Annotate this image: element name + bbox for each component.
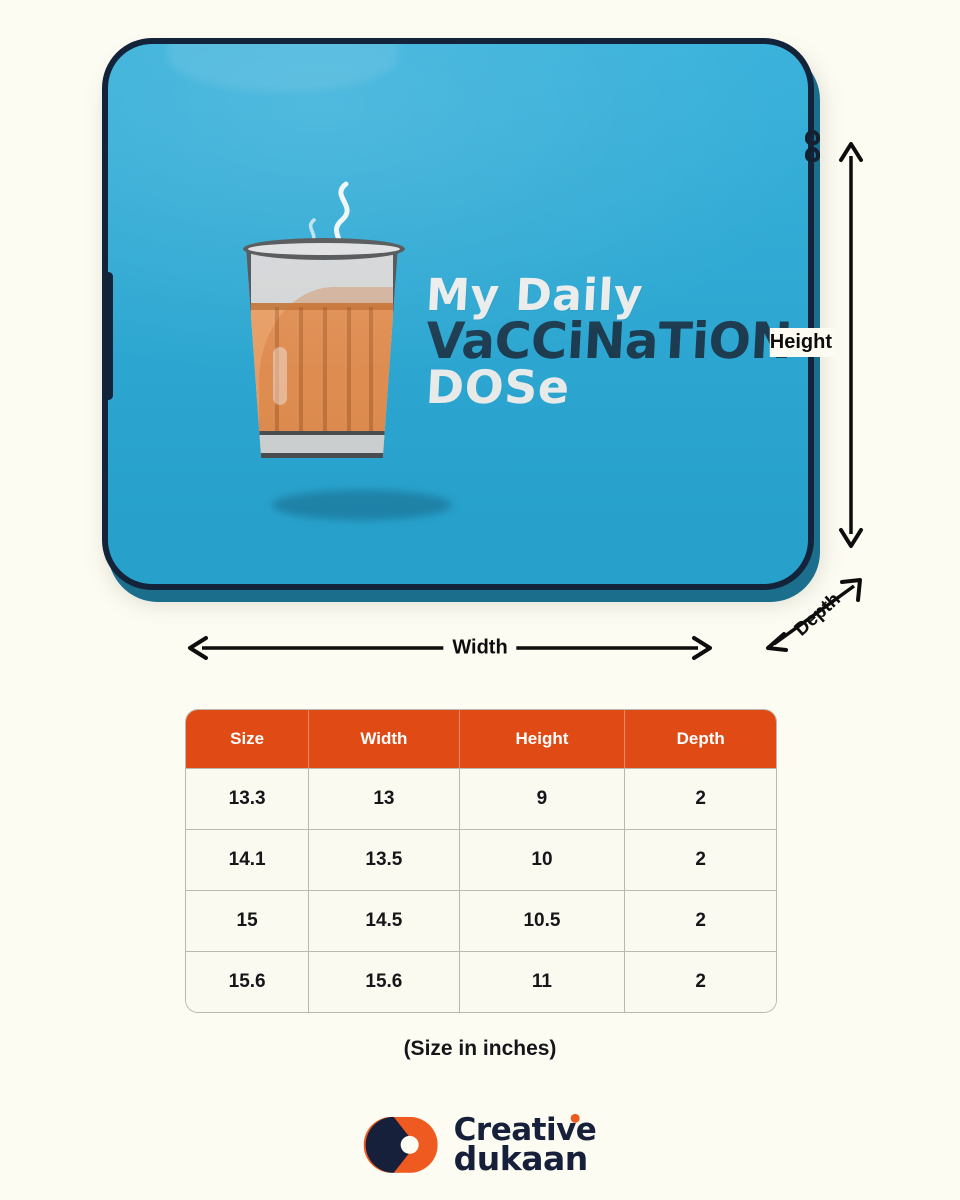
glass-highlight	[273, 347, 287, 405]
cell-width: 15.6	[309, 951, 459, 1012]
glass-base	[251, 431, 393, 453]
height-arrow	[838, 140, 864, 550]
slogan-line-2: VaCCiNaTiON	[425, 318, 777, 364]
creative-dukaan-logo-icon	[364, 1117, 438, 1173]
design-slogan: My Daily VaCCiNaTiON DOSe	[426, 276, 776, 409]
cell-height: 11	[460, 951, 626, 1012]
cell-height: 10.5	[460, 890, 626, 951]
cell-height: 10	[460, 829, 626, 890]
width-label: Width	[443, 637, 516, 660]
cell-size: 15	[186, 890, 309, 951]
table-row: 15 14.5 10.5 2	[186, 890, 776, 951]
brand-line-2: dukaan	[454, 1144, 597, 1173]
cell-size: 13.3	[186, 768, 309, 829]
slogan-line-1: My Daily	[425, 276, 777, 316]
cell-width: 13.5	[309, 829, 459, 890]
size-unit-note: (Size in inches)	[404, 1037, 557, 1061]
zipper-track-left	[104, 272, 113, 400]
cell-width: 14.5	[309, 890, 459, 951]
zipper-pull	[803, 130, 825, 176]
cell-width: 13	[309, 768, 459, 829]
slogan-line-3: DOSe	[425, 366, 777, 408]
cell-depth: 2	[625, 768, 776, 829]
table-header-row: Size Width Height Depth	[186, 710, 776, 768]
brand-wordmark: Creative dukaan	[454, 1117, 597, 1173]
size-table: Size Width Height Depth 13.3 13 9 2 14.1…	[186, 710, 776, 1012]
cell-size: 15.6	[186, 951, 309, 1012]
product-image: My Daily VaCCiNaTiON DOSe	[96, 34, 826, 604]
glass-shadow	[272, 490, 452, 520]
brand-logo: Creative dukaan	[364, 1117, 597, 1173]
cell-depth: 2	[625, 829, 776, 890]
column-header-depth: Depth	[625, 710, 776, 768]
sleeve-fabric-fold	[168, 44, 398, 92]
height-label: Height	[770, 328, 836, 357]
cell-height: 9	[460, 768, 626, 829]
table-row: 13.3 13 9 2	[186, 768, 776, 829]
cell-size: 14.1	[186, 829, 309, 890]
glass-vessel	[246, 246, 398, 458]
column-header-width: Width	[309, 710, 459, 768]
chai-glass-illustration	[238, 184, 418, 514]
sleeve-body: My Daily VaCCiNaTiON DOSe	[108, 44, 808, 584]
glass-rim	[243, 238, 405, 260]
cell-depth: 2	[625, 890, 776, 951]
column-header-height: Height	[460, 710, 626, 768]
brand-accent-dot	[570, 1114, 579, 1123]
cell-depth: 2	[625, 951, 776, 1012]
table-row: 14.1 13.5 10 2	[186, 829, 776, 890]
column-header-size: Size	[186, 710, 309, 768]
table-row: 15.6 15.6 11 2	[186, 951, 776, 1012]
size-chart-page: My Daily VaCCiNaTiON DOSe Height Width D…	[0, 0, 960, 1200]
